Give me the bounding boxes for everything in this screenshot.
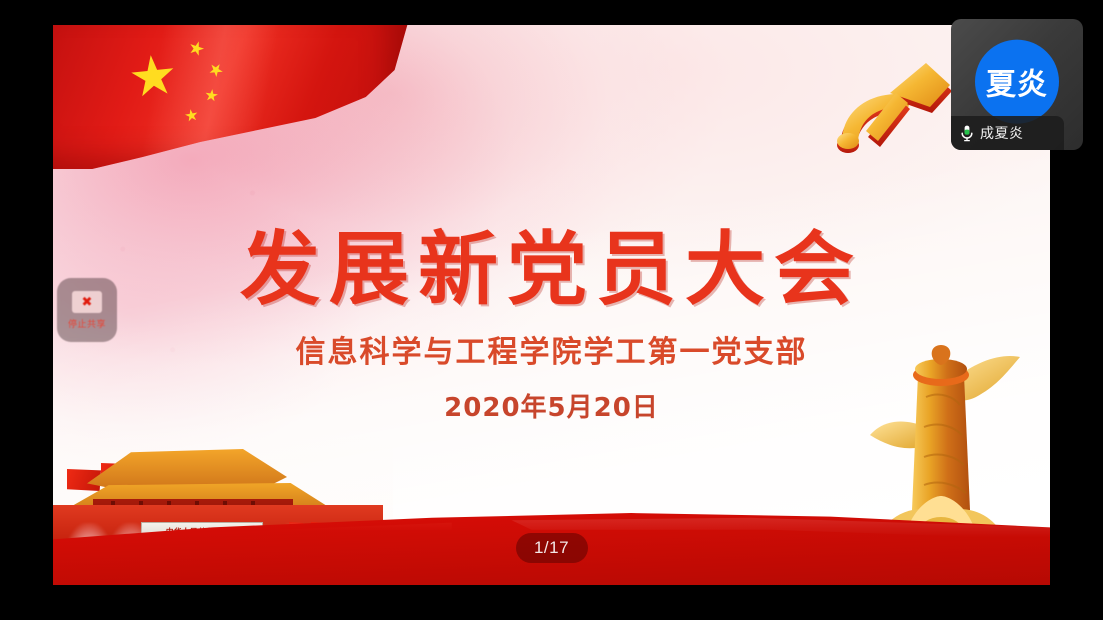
stop-share-label: 停止共享 <box>68 317 106 330</box>
page-indicator: 1/17 <box>516 533 588 563</box>
red-ribbon-wave <box>53 465 1050 585</box>
close-icon: ✖ <box>82 295 93 308</box>
avatar: 夏炎 <box>975 39 1059 123</box>
flag-sheen <box>53 25 409 169</box>
microphone-icon[interactable] <box>959 124 975 142</box>
participant-name-bar: 成夏炎 <box>951 116 1064 150</box>
participant-video-tile[interactable]: 夏炎 成夏炎 <box>951 19 1083 150</box>
meeting-screen: 发展新党员大会 信息科学与工程学院学工第一党支部 2020年5月20日 中华人民… <box>0 0 1103 620</box>
stop-share-button[interactable]: ✖ 停止共享 <box>57 278 117 342</box>
slide-main-title: 发展新党员大会 <box>53 223 1050 317</box>
participant-name: 成夏炎 <box>980 123 1024 143</box>
chinese-flag-graphic <box>53 25 409 169</box>
shared-slide[interactable]: 发展新党员大会 信息科学与工程学院学工第一党支部 2020年5月20日 中华人民… <box>53 25 1050 585</box>
stop-screen-share-icon: ✖ <box>72 291 102 313</box>
